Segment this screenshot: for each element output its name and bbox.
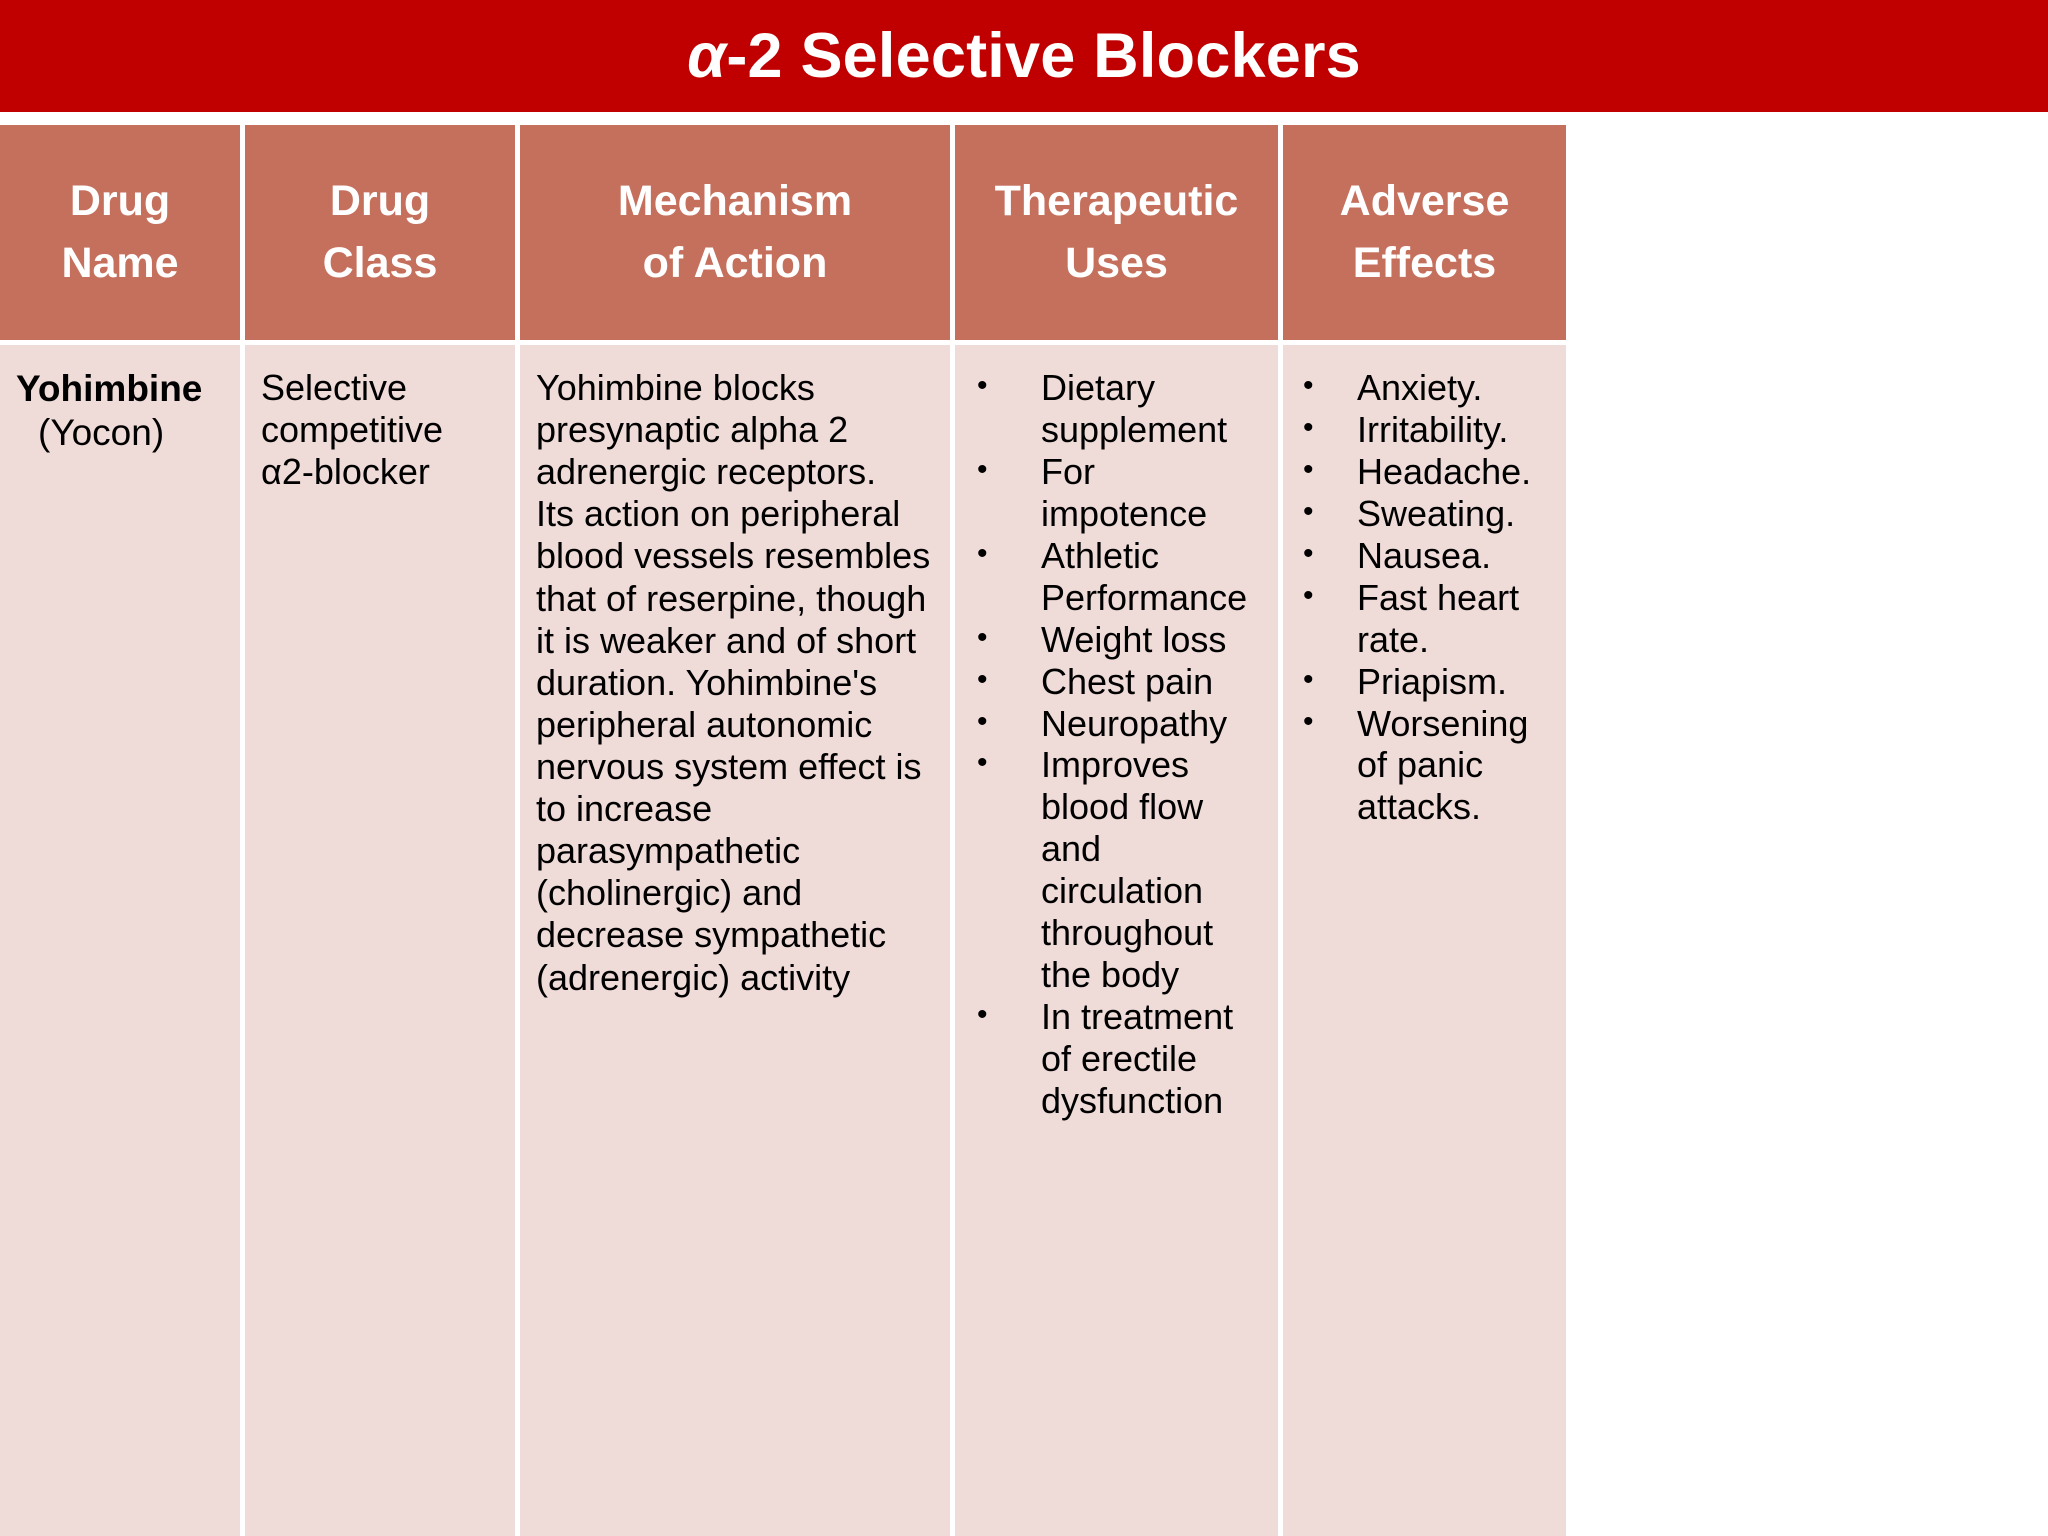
drug-class-text: Selective competitive α2-blocker	[261, 367, 443, 492]
column-header-therapeutic-uses: Therapeutic Uses	[955, 125, 1278, 340]
list-item: Athletic Performance	[971, 535, 1262, 619]
list-item: Irritability.	[1299, 409, 1550, 451]
column-header-drug-class-line2: Class	[323, 239, 438, 287]
list-item: For impotence	[971, 451, 1262, 535]
table-header-row: Drug Name Drug Class Mechanism of Action…	[0, 125, 2048, 340]
slide-root: α-2 Selective Blockers Drug Name Drug Cl…	[0, 0, 2048, 1536]
title-banner: α-2 Selective Blockers	[0, 0, 2048, 112]
list-item: Anxiety.	[1299, 367, 1550, 409]
therapeutic-uses-list: Dietary supplement For impotence Athleti…	[971, 367, 1262, 1122]
mechanism-paragraph-1: Yohimbine blocks presynaptic alpha 2 adr…	[536, 367, 934, 493]
cell-drug-class: Selective competitive α2-blocker	[245, 345, 515, 1536]
drug-table: Drug Name Drug Class Mechanism of Action…	[0, 125, 2048, 1536]
column-header-mechanism-line2: of Action	[643, 239, 828, 287]
title-rest: -2 Selective Blockers	[726, 21, 1361, 91]
cell-drug-name: Yohimbine (Yocon)	[0, 345, 240, 1536]
column-header-drug-name-line2: Name	[61, 239, 178, 287]
table-row: Yohimbine (Yocon) Selective competitive …	[0, 345, 2048, 1536]
list-item: Weight loss	[971, 619, 1262, 661]
list-item: Dietary supplement	[971, 367, 1262, 451]
column-header-mechanism-line1: Mechanism	[618, 177, 852, 225]
list-item: Nausea.	[1299, 535, 1550, 577]
column-header-therapeutic-line1: Therapeutic	[995, 177, 1239, 225]
page-title: α-2 Selective Blockers	[687, 25, 1361, 88]
drug-name-text: Yohimbine	[16, 367, 224, 411]
list-item: Priapism.	[1299, 661, 1550, 703]
list-item: Worsening of panic attacks.	[1299, 703, 1550, 829]
list-item: Chest pain	[971, 661, 1262, 703]
cell-therapeutic-uses: Dietary supplement For impotence Athleti…	[955, 345, 1278, 1536]
cell-adverse-effects: Anxiety. Irritability. Headache. Sweatin…	[1283, 345, 1566, 1536]
column-header-adverse-line2: Effects	[1353, 239, 1496, 287]
column-header-adverse-line1: Adverse	[1340, 177, 1510, 225]
list-item: Headache.	[1299, 451, 1550, 493]
list-item: In treatment of erectile dysfunction	[971, 996, 1262, 1122]
adverse-effects-list: Anxiety. Irritability. Headache. Sweatin…	[1299, 367, 1550, 828]
column-header-drug-class-line1: Drug	[330, 177, 430, 225]
column-header-adverse-effects: Adverse Effects	[1283, 125, 1566, 340]
column-header-mechanism-of-action: Mechanism of Action	[520, 125, 950, 340]
title-alpha-symbol: α	[687, 21, 726, 91]
column-header-drug-class: Drug Class	[245, 125, 515, 340]
column-header-drug-name-line1: Drug	[70, 177, 170, 225]
drug-brand-text: (Yocon)	[16, 411, 224, 455]
list-item: Neuropathy	[971, 703, 1262, 745]
column-header-drug-name: Drug Name	[0, 125, 240, 340]
mechanism-paragraph-2: Its action on peripheral blood vessels r…	[536, 493, 934, 998]
cell-mechanism-of-action: Yohimbine blocks presynaptic alpha 2 adr…	[520, 345, 950, 1536]
column-header-therapeutic-line2: Uses	[1065, 239, 1168, 287]
list-item: Improves blood flow and circulation thro…	[971, 744, 1262, 996]
list-item: Fast heart rate.	[1299, 577, 1550, 661]
list-item: Sweating.	[1299, 493, 1550, 535]
